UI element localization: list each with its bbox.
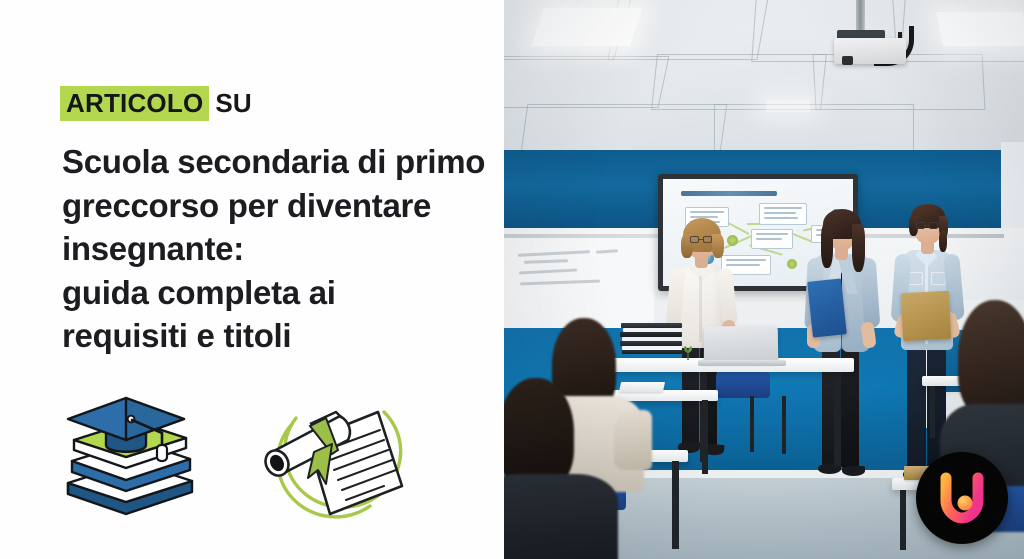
headline-line-3: insegnante:: [62, 227, 502, 271]
ceiling-light-right: [936, 12, 1024, 46]
projector-mount-pole: [856, 0, 865, 34]
poster-canvas: ARTICOLOSU Scuola secondaria di primo gr…: [0, 0, 1024, 559]
wall-corner-right: [1001, 142, 1024, 237]
ceiling-light-left: [532, 8, 642, 46]
teacher-desk-leg: [834, 370, 841, 466]
kicker-trailing: SU: [215, 88, 252, 118]
student-front-left: [504, 378, 628, 559]
chair-leg: [782, 396, 786, 454]
glasses-icon: [690, 236, 714, 244]
brand-logo[interactable]: [916, 452, 1008, 544]
student-desk-leg: [702, 400, 708, 474]
laptop-base: [698, 360, 786, 366]
whiteboard: [504, 238, 654, 330]
student-desk-leg: [900, 490, 906, 550]
desk-plant: [682, 344, 694, 360]
glasses-icon: [916, 222, 940, 230]
laptop[interactable]: [704, 326, 778, 362]
graduation-cap-on-books-icon: [58, 392, 200, 520]
headline-line-1: Scuola secondaria di primo: [62, 140, 502, 184]
projector-lens: [842, 56, 853, 65]
kicker: ARTICOLOSU: [60, 86, 252, 121]
screen-diagram-box: [751, 229, 793, 249]
student-desk-leg: [672, 461, 679, 549]
left-text-panel: ARTICOLOSU Scuola secondaria di primo gr…: [0, 0, 504, 559]
diploma-scroll-icon: [252, 388, 418, 524]
logo-u-glyph: [938, 472, 986, 524]
ceiling-light-far: [766, 100, 810, 112]
page-title: Scuola secondaria di primo greccorso per…: [62, 140, 502, 358]
headline-line-2: greccorso per diventare: [62, 184, 502, 228]
kicker-highlight: ARTICOLO: [60, 86, 209, 121]
headline-line-4: guida completa ai: [62, 271, 502, 315]
screen-title-placeholder: [681, 191, 777, 196]
teacher-chair: [716, 372, 770, 398]
headline-line-5: requisiti e titoli: [62, 314, 502, 358]
blue-folder: [807, 278, 847, 337]
chair-leg: [750, 396, 754, 452]
